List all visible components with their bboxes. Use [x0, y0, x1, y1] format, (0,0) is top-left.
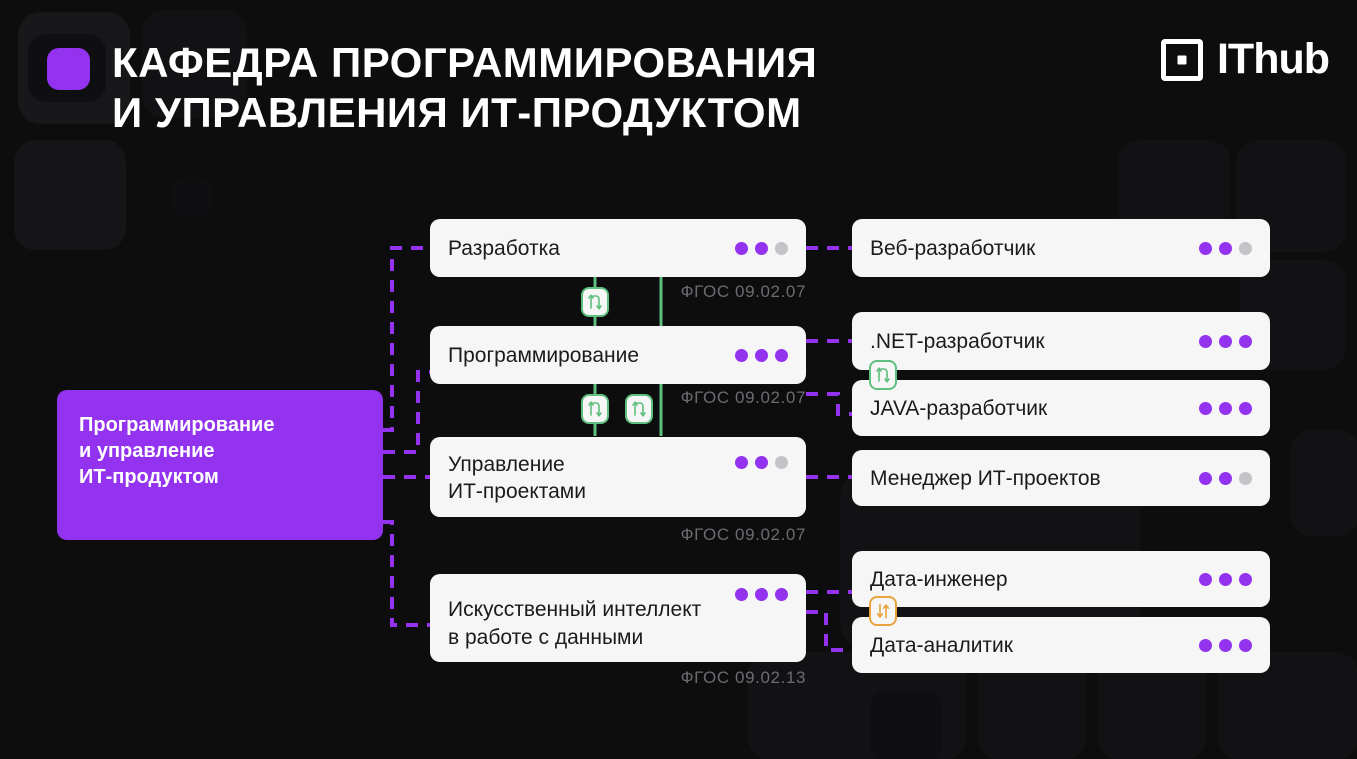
- swap-arrows-glyph: [587, 400, 603, 418]
- bg-square: [172, 178, 212, 218]
- level-dot-filled: [1199, 573, 1212, 586]
- program-card-label: Искусственный интеллект в работе с данны…: [448, 596, 735, 652]
- level-dot-filled: [755, 588, 768, 601]
- purple-rounded-square-icon: [47, 48, 90, 90]
- level-dots: [735, 242, 788, 255]
- level-dot-filled: [735, 456, 748, 469]
- profession-card-label: Дата-аналитик: [870, 632, 1199, 659]
- root-node-programming-it-product[interactable]: Программирование и управление ИТ-продукт…: [57, 390, 383, 540]
- level-dots: [1199, 402, 1252, 415]
- level-dot-filled: [1199, 242, 1212, 255]
- ithub-logo: IThub: [1161, 38, 1329, 81]
- level-dots: [1199, 472, 1252, 485]
- profession-card-menedzher-it-proektov[interactable]: Менеджер ИТ-проектов: [852, 450, 1270, 506]
- level-dot-filled: [1239, 573, 1252, 586]
- level-dot-filled: [755, 456, 768, 469]
- profession-card-label: Дата-инженер: [870, 566, 1199, 593]
- level-dot-empty: [775, 456, 788, 469]
- level-dots: [735, 456, 788, 469]
- swap-arrows-glyph: [587, 293, 603, 311]
- fgos-label-ii: ФГОС 09.02.13: [606, 668, 806, 688]
- profession-card-java-razrabotchik[interactable]: JAVA-разработчик: [852, 380, 1270, 436]
- level-dot-filled: [775, 588, 788, 601]
- level-dots: [1199, 639, 1252, 652]
- level-dot-filled: [1239, 639, 1252, 652]
- level-dot-filled: [1219, 639, 1232, 652]
- level-dot-filled: [1219, 573, 1232, 586]
- level-dot-filled: [1239, 402, 1252, 415]
- level-dot-filled: [735, 242, 748, 255]
- profession-card-label: JAVA-разработчик: [870, 395, 1199, 422]
- level-dot-empty: [1239, 242, 1252, 255]
- level-dots: [1199, 573, 1252, 586]
- level-dots: [1199, 335, 1252, 348]
- swap-arrows-icon[interactable]: [625, 394, 653, 424]
- swap-arrows-icon[interactable]: [581, 394, 609, 424]
- fgos-label-upravlenie: ФГОС 09.02.07: [606, 525, 806, 545]
- swap-arrows-glyph: [631, 400, 647, 418]
- level-dots: [1199, 242, 1252, 255]
- bg-square: [1290, 430, 1357, 536]
- level-dot-empty: [1239, 472, 1252, 485]
- page-title: КАФЕДРА ПРОГРАММИРОВАНИЯ И УПРАВЛЕНИЯ ИТ…: [112, 38, 817, 138]
- program-card-razrabotka[interactable]: Разработка: [430, 219, 806, 277]
- level-dot-filled: [735, 588, 748, 601]
- program-card-label: Разработка: [448, 235, 735, 262]
- level-dot-filled: [1199, 639, 1212, 652]
- slide-header: КАФЕДРА ПРОГРАММИРОВАНИЯ И УПРАВЛЕНИЯ ИТ…: [0, 0, 1357, 160]
- level-dot-filled: [1219, 242, 1232, 255]
- program-card-upravlenie-it-proektami[interactable]: Управление ИТ-проектами: [430, 437, 806, 517]
- level-dot-filled: [1219, 472, 1232, 485]
- profession-card-net-razrabotchik[interactable]: .NET-разработчик: [852, 312, 1270, 370]
- level-dots: [735, 588, 788, 601]
- program-card-label: Управление ИТ-проектами: [448, 451, 735, 505]
- updown-arrows-icon[interactable]: [869, 596, 897, 626]
- swap-arrows-icon[interactable]: [869, 360, 897, 390]
- level-dot-filled: [735, 349, 748, 362]
- level-dot-filled: [1219, 335, 1232, 348]
- level-dot-filled: [755, 242, 768, 255]
- level-dot-filled: [1219, 402, 1232, 415]
- program-card-label: Программирование: [448, 342, 735, 369]
- swap-arrows-glyph: [875, 366, 891, 384]
- profession-card-label: Менеджер ИТ-проектов: [870, 465, 1199, 492]
- level-dots: [735, 349, 788, 362]
- slide-root: КАФЕДРА ПРОГРАММИРОВАНИЯ И УПРАВЛЕНИЯ ИТ…: [0, 0, 1357, 759]
- profession-card-data-analitik[interactable]: Дата-аналитик: [852, 617, 1270, 673]
- level-dot-filled: [755, 349, 768, 362]
- profession-card-label: Веб-разработчик: [870, 235, 1199, 262]
- ithub-square-mark-icon: [1161, 39, 1203, 81]
- program-card-iskusstvennyy-intellekt[interactable]: Искусственный интеллект в работе с данны…: [430, 574, 806, 662]
- level-dot-filled: [775, 349, 788, 362]
- level-dot-filled: [1239, 335, 1252, 348]
- swap-arrows-icon[interactable]: [581, 287, 609, 317]
- level-dot-empty: [775, 242, 788, 255]
- profession-card-label: .NET-разработчик: [870, 328, 1199, 355]
- level-dot-filled: [1199, 335, 1212, 348]
- bg-square: [870, 690, 942, 759]
- profession-card-data-inzhener[interactable]: Дата-инженер: [852, 551, 1270, 607]
- program-card-programmirovanie[interactable]: Программирование: [430, 326, 806, 384]
- level-dot-filled: [1199, 402, 1212, 415]
- fgos-label-razrabotka: ФГОС 09.02.07: [606, 282, 806, 302]
- ithub-wordmark: IThub: [1217, 38, 1329, 81]
- level-dot-filled: [1199, 472, 1212, 485]
- profession-card-veb-razrabotchik[interactable]: Веб-разработчик: [852, 219, 1270, 277]
- root-node-label: Программирование и управление ИТ-продукт…: [79, 412, 369, 490]
- updown-arrows-glyph: [875, 602, 891, 620]
